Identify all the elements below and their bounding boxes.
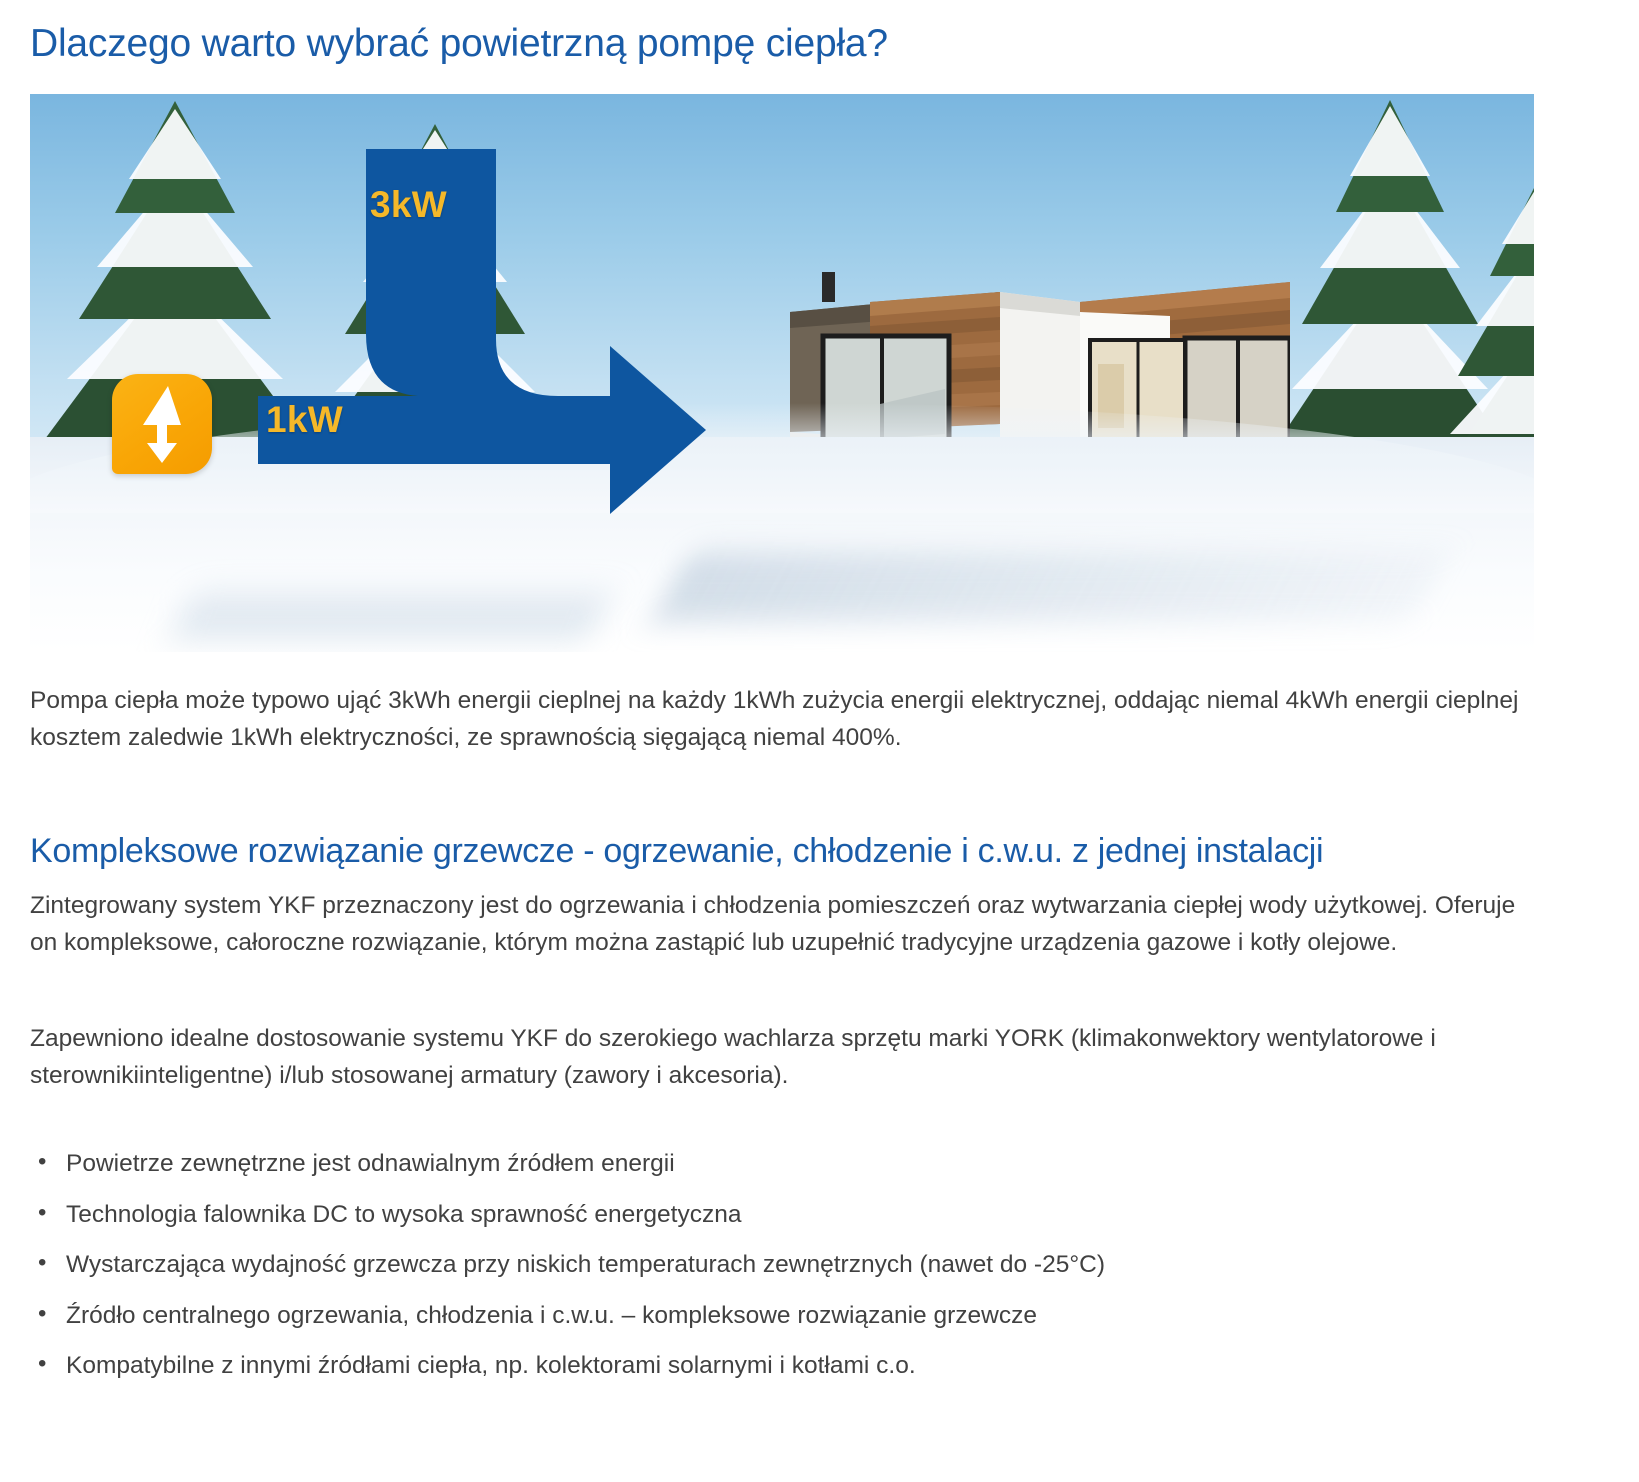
bent-arrow-icon	[258, 134, 708, 534]
compatibility-paragraph: Zapewniono idealne dostosowanie systemu …	[30, 1020, 1540, 1094]
label-input-power: 1kW	[266, 399, 343, 441]
feature-list: Powietrze zewnętrzne jest odnawialnym źr…	[30, 1152, 1609, 1379]
section-heading-complete-solution: Kompleksowe rozwiązanie grzewcze - ogrze…	[30, 832, 1609, 871]
system-paragraph: Zintegrowany system YKF przeznaczony jes…	[30, 887, 1540, 961]
list-item: Wystarczająca wydajność grzewcza przy ni…	[30, 1253, 1609, 1278]
list-item: Technologia falownika DC to wysoka spraw…	[30, 1203, 1609, 1228]
intro-paragraph: Pompa ciepła może typowo ująć 3kWh energ…	[30, 682, 1540, 756]
label-output-power: 3kW	[370, 184, 447, 226]
page-root: Dlaczego warto wybrać powietrzną pompę c…	[0, 0, 1639, 1482]
page-title: Dlaczego warto wybrać powietrzną pompę c…	[30, 0, 1609, 66]
list-item: Powietrze zewnętrzne jest odnawialnym źr…	[30, 1152, 1609, 1177]
list-item: Źródło centralnego ogrzewania, chłodzeni…	[30, 1304, 1609, 1329]
hero-image: 3kW 1kW	[30, 94, 1534, 652]
lightning-bolt-icon	[112, 374, 212, 474]
house-shadow	[651, 552, 1448, 622]
list-item: Kompatybilne z innymi źródłami ciepła, n…	[30, 1354, 1609, 1379]
energy-flow-diagram: 3kW 1kW	[258, 134, 708, 534]
tree-shadow	[171, 594, 610, 640]
